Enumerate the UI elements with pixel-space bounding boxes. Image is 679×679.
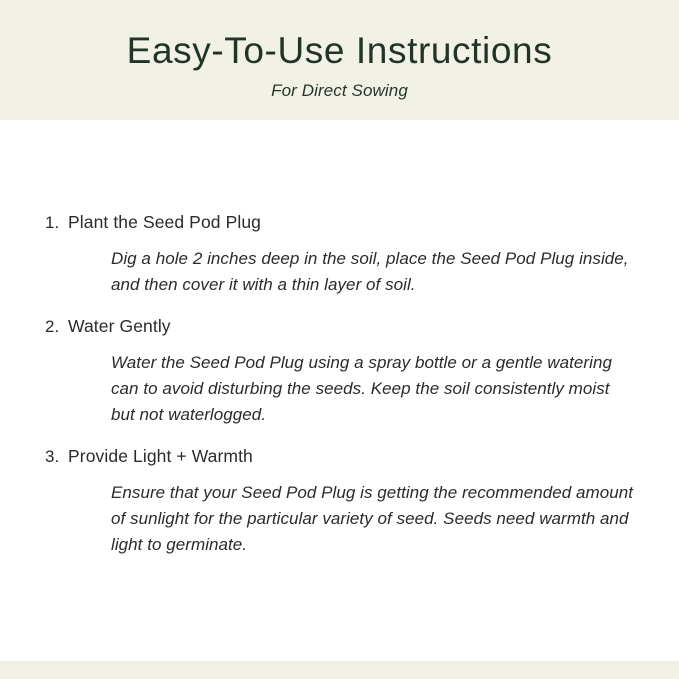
page-subtitle: For Direct Sowing (271, 81, 408, 101)
instructions-body: 1. Plant the Seed Pod Plug Dig a hole 2 … (0, 120, 679, 661)
step-title: Water Gently (68, 315, 171, 339)
step-item: 3. Provide Light + Warmth Ensure that yo… (0, 445, 679, 559)
step-item: 1. Plant the Seed Pod Plug Dig a hole 2 … (0, 211, 679, 299)
step-description: Ensure that your Seed Pod Plug is gettin… (0, 480, 679, 559)
footer-band (0, 661, 679, 679)
page-title: Easy-To-Use Instructions (127, 30, 553, 73)
instructions-page: Easy-To-Use Instructions For Direct Sowi… (0, 0, 679, 679)
step-heading: 2. Water Gently (0, 315, 679, 339)
step-title: Provide Light + Warmth (68, 445, 253, 469)
step-description: Water the Seed Pod Plug using a spray bo… (0, 350, 679, 429)
header-band: Easy-To-Use Instructions For Direct Sowi… (0, 0, 679, 120)
steps-list: 1. Plant the Seed Pod Plug Dig a hole 2 … (0, 120, 679, 559)
step-number: 3. (45, 446, 68, 469)
step-title: Plant the Seed Pod Plug (68, 211, 261, 235)
step-heading: 1. Plant the Seed Pod Plug (0, 211, 679, 235)
step-number: 1. (45, 212, 68, 235)
step-heading: 3. Provide Light + Warmth (0, 445, 679, 469)
step-description: Dig a hole 2 inches deep in the soil, pl… (0, 246, 679, 299)
step-item: 2. Water Gently Water the Seed Pod Plug … (0, 315, 679, 429)
step-number: 2. (45, 316, 68, 339)
